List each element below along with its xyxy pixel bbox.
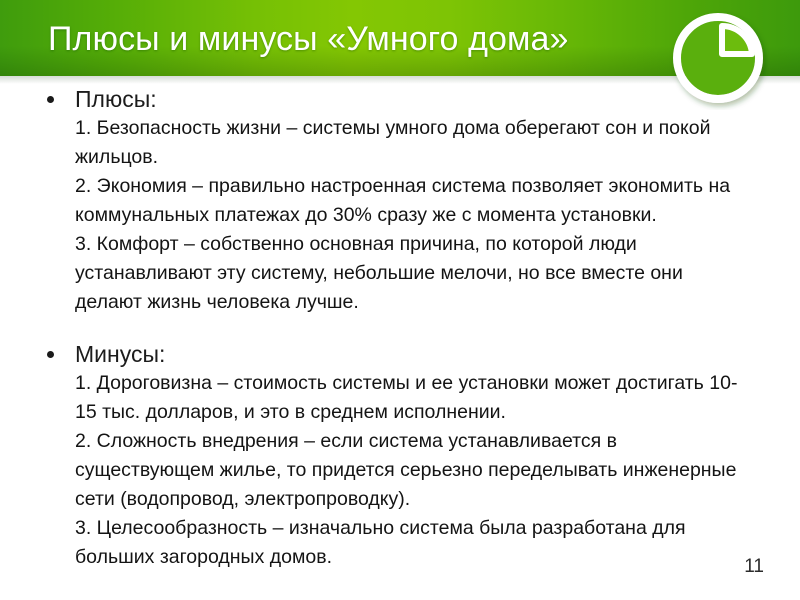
slide-title: Плюсы и минусы «Умного дома» [48, 22, 748, 56]
list-item: 3. Целесообразность – изначально система… [75, 514, 740, 572]
content-block-cons: Минусы: 1. Дороговизна – стоимость систе… [0, 339, 800, 572]
list-item: 1. Дороговизна – стоимость системы и ее … [75, 369, 740, 427]
header-shadow [0, 76, 800, 84]
list-item: 1. Безопасность жизни – системы умного д… [75, 114, 740, 172]
sub-list-cons: 1. Дороговизна – стоимость системы и ее … [0, 369, 800, 572]
list-item: 3. Комфорт – собственно основная причина… [75, 230, 740, 317]
bullet-heading-pros: Плюсы: [75, 84, 800, 114]
content-block-pros: Плюсы: 1. Безопасность жизни – системы у… [0, 84, 800, 317]
slide-content: Плюсы: 1. Безопасность жизни – системы у… [0, 84, 800, 584]
bullet-row-cons: Минусы: [0, 339, 800, 369]
block-spacer [0, 323, 800, 339]
bullet-row-pros: Плюсы: [0, 84, 800, 114]
page-number: 11 [744, 557, 764, 576]
list-item: 2. Экономия – правильно настроенная сист… [75, 172, 740, 230]
sub-list-pros: 1. Безопасность жизни – системы умного д… [0, 114, 800, 317]
bullet-dot-icon [47, 351, 54, 358]
presentation-slide: Плюсы и минусы «Умного дома» Плю [0, 0, 800, 600]
bullet-heading-cons: Минусы: [75, 339, 800, 369]
list-item: 2. Сложность внедрения – если система ус… [75, 427, 740, 514]
bullet-dot-icon [47, 96, 54, 103]
